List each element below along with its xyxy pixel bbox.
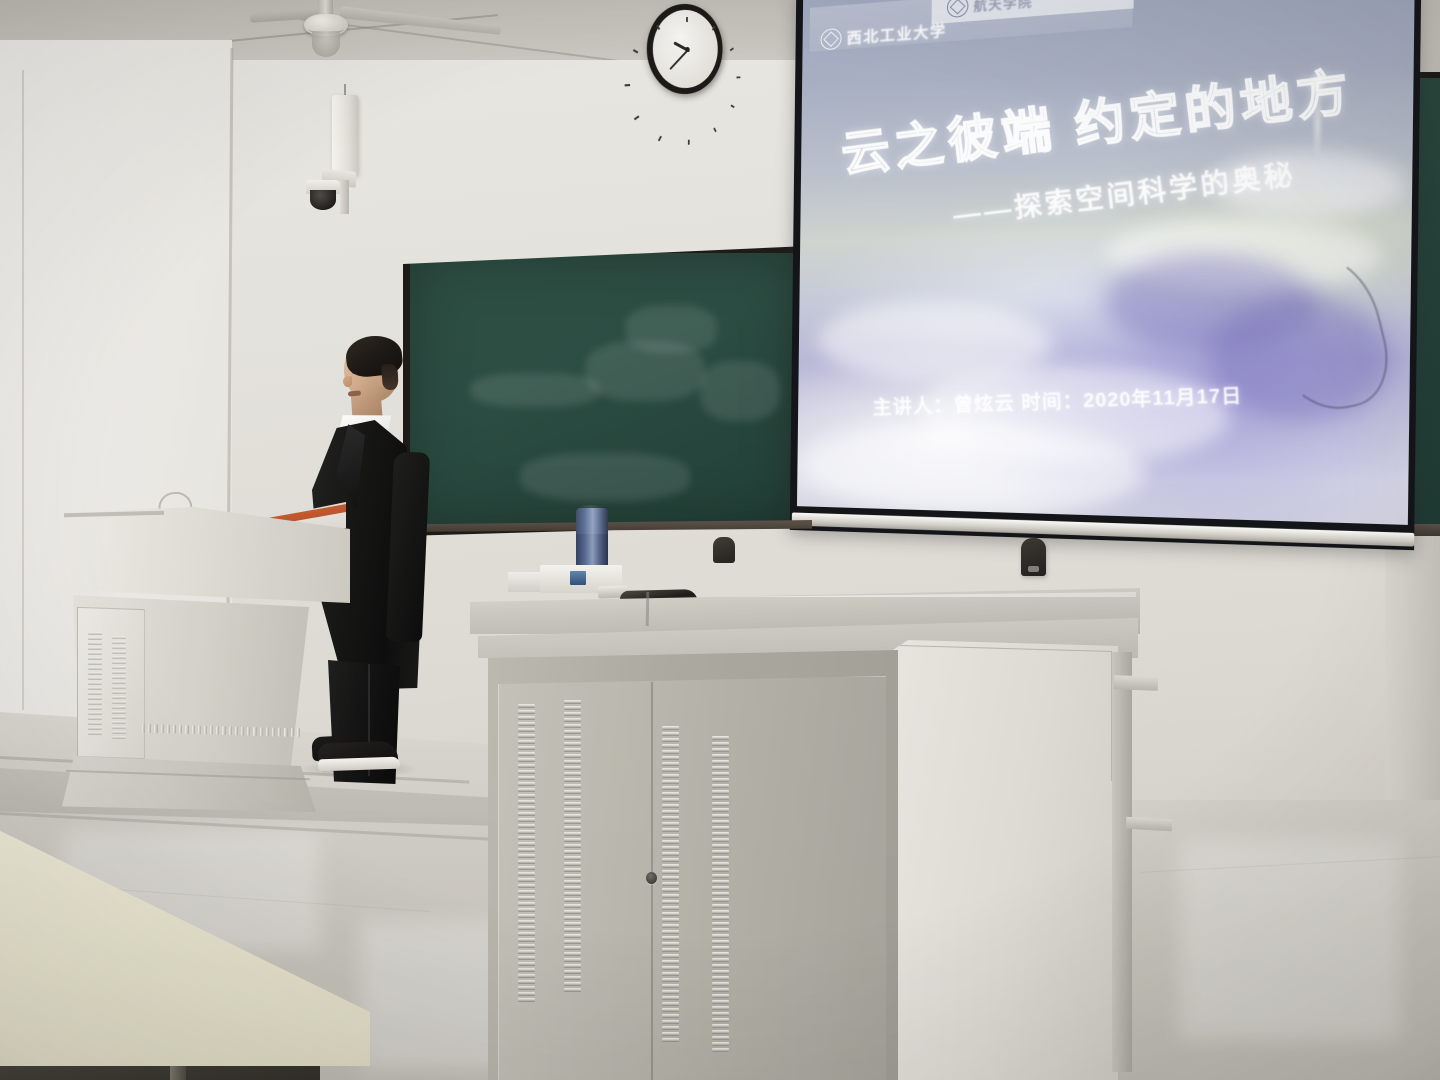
lectern-vent	[88, 632, 102, 740]
cabinet-door-recess	[498, 676, 886, 1080]
desk-seam	[646, 592, 650, 626]
wall-speaker-left	[332, 95, 358, 175]
cabinet-vent	[662, 726, 679, 1046]
presenter-sideburn	[381, 363, 399, 390]
chalkboard-main	[403, 246, 808, 536]
projection-screen: 西北工业大学 航天学院 云之彼端 约定的地方 ——探索空间科学的奥秘 主讲人：曾…	[790, 0, 1422, 550]
cabinet-panel-outline	[900, 645, 1112, 781]
speaker-stem	[340, 180, 349, 214]
clock-face	[653, 8, 718, 90]
clock-minute-hand	[669, 49, 689, 70]
thermos-label	[576, 534, 608, 566]
cabinet-skirt	[1114, 675, 1158, 691]
ceiling-fan-hub	[312, 31, 340, 57]
cabinet-lock-icon[interactable]	[646, 872, 657, 884]
cabinet-vent	[712, 736, 729, 1056]
cabinet-vent	[518, 704, 535, 1006]
wall-speaker-right	[1021, 538, 1046, 576]
presenter-nose	[343, 376, 352, 387]
wall-speaker-mid	[713, 537, 735, 563]
clock-center-pin	[685, 46, 689, 51]
university-seal-icon	[947, 0, 969, 18]
wall-seam	[22, 70, 24, 710]
security-camera-icon	[310, 190, 336, 210]
cabinet-skirt	[1126, 817, 1173, 831]
lecture-hall-photo: 西北工业大学 航天学院 云之彼端 约定的地方 ——探索空间科学的奥秘 主讲人：曾…	[0, 0, 1440, 1080]
cabinet-vent	[564, 700, 581, 996]
tissue-box	[508, 572, 544, 592]
university-seal-icon	[820, 28, 841, 51]
cabinet-edge	[1112, 652, 1132, 1072]
lectern-vent	[112, 636, 126, 744]
projected-slide: 西北工业大学 航天学院 云之彼端 约定的地方 ——探索空间科学的奥秘 主讲人：曾…	[797, 0, 1415, 525]
